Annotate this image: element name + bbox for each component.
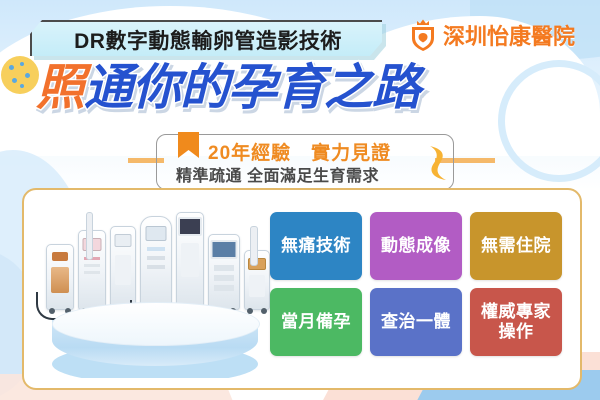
headline-accent: 照 [36, 61, 84, 115]
feature-tag[interactable]: 當月備孕 [270, 288, 362, 356]
page-title: 照通你的孕育之路 [36, 64, 420, 113]
feature-tag[interactable]: 無痛技術 [270, 212, 362, 280]
machine-4 [140, 216, 172, 310]
subtitle-line-1: 20年經驗 實力見證 [208, 138, 391, 165]
feature-tag-grid: 無痛技術 動態成像 無需住院 當月備孕 查治一體 權威專家操作 [270, 212, 562, 362]
feature-tag[interactable]: 無需住院 [470, 212, 562, 280]
hose-1 [36, 292, 60, 320]
feature-tag[interactable]: 權威專家操作 [470, 288, 562, 356]
hospital-logo: 深圳怡康醫院 [408, 18, 575, 52]
cookie-circle-icon [1, 56, 39, 94]
crown-shield-icon [408, 18, 438, 52]
ribbon-chevron-icon [426, 144, 452, 182]
header-banner-title: DR數字動態輸卵管造影技術 [74, 25, 342, 55]
hospital-name: 深圳怡康醫院 [443, 19, 575, 51]
machine-6 [208, 234, 240, 310]
subtitle-line-2: 精準疏通 全面滿足生育需求 [176, 162, 379, 186]
headline-main: 通你的孕育之路 [84, 61, 420, 115]
machine-2-arm [86, 212, 93, 260]
pedestal-top [52, 302, 260, 346]
machine-3 [110, 226, 136, 310]
machine-7-arm [250, 226, 258, 266]
feature-tag[interactable]: 動態成像 [370, 212, 462, 280]
header-banner: DR數字動態輸卵管造影技術 [30, 20, 386, 60]
banner-canvas: DR數字動態輸卵管造影技術 深圳怡康醫院 照通你的孕育之路 20年經驗 實力見證 [0, 0, 600, 400]
equipment-image [30, 192, 280, 378]
subtitle-banner: 20年經驗 實力見證 精準疏通 全面滿足生育需求 [150, 134, 460, 188]
machine-5 [176, 212, 204, 310]
feature-tag[interactable]: 查治一體 [370, 288, 462, 356]
